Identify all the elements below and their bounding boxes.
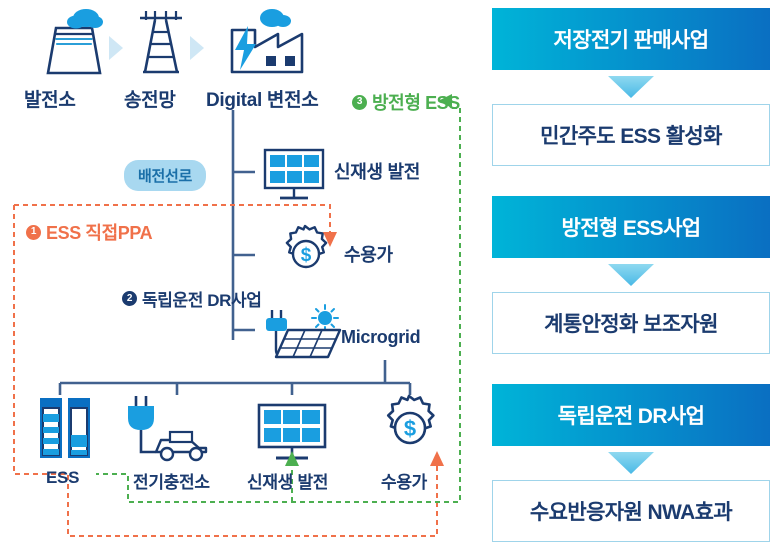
callout-label-3: 방전형 ESS	[372, 89, 460, 115]
label-ess: ESS	[46, 468, 79, 488]
svg-text:$: $	[301, 245, 312, 266]
callout-badge-1: 1	[26, 225, 41, 240]
callout-label-1: ESS 직접PPA	[46, 219, 152, 245]
label-microgrid: Microgrid	[341, 327, 420, 348]
label-renewable-lower: 신재생 발전	[247, 468, 328, 493]
gear-dollar-icon-lower: $	[388, 396, 433, 443]
diagram-canvas: $	[0, 0, 780, 557]
ev-charger-icon	[128, 396, 206, 460]
panel-result-1[interactable]: 계통안정화 보조자원	[492, 292, 770, 354]
label-renewable-upper: 신재생 발전	[334, 158, 420, 184]
panel-result-2[interactable]: 수요반응자원 NWA효과	[492, 480, 770, 542]
gear-dollar-icon-upper: $	[287, 226, 326, 267]
label-ev-charger: 전기충전소	[133, 468, 210, 493]
callout-label-2: 독립운전 DR사업	[142, 286, 262, 311]
chevron-right-icon-1	[109, 36, 123, 60]
svg-text:$: $	[404, 416, 416, 441]
battery-icon	[40, 398, 90, 458]
chevron-right-icon-2	[190, 36, 204, 60]
callout-badge-2: 2	[122, 291, 137, 306]
callout-independent-dr: 2 독립운전 DR사업	[122, 286, 262, 311]
callout-badge-3: 3	[352, 95, 367, 110]
solar-panel-icon-lower	[259, 405, 325, 458]
power-plant-icon	[48, 9, 103, 73]
microgrid-solar-icon	[266, 305, 340, 357]
callout-discharge-ess: 3 방전형 ESS	[352, 89, 460, 115]
digital-substation-icon	[232, 9, 302, 72]
panel-header-1[interactable]: 방전형 ESS사업	[492, 196, 770, 258]
label-consumer-upper: 수용가	[344, 241, 393, 267]
label-power-plant: 발전소	[24, 85, 76, 112]
panel-header-2[interactable]: 독립운전 DR사업	[492, 384, 770, 446]
label-transmission: 송전망	[124, 85, 176, 112]
label-substation: Digital 변전소	[206, 85, 318, 112]
distribution-line-pill: 배전선로	[124, 160, 206, 191]
solar-panel-icon-upper	[265, 150, 323, 198]
label-consumer-lower: 수용가	[381, 468, 427, 493]
callout-ess-direct-ppa: 1 ESS 직접PPA	[26, 219, 152, 245]
panel-result-0[interactable]: 민간주도 ESS 활성화	[492, 104, 770, 166]
panel-header-0[interactable]: 저장전기 판매사업	[492, 8, 770, 70]
transmission-tower-icon	[140, 11, 182, 72]
